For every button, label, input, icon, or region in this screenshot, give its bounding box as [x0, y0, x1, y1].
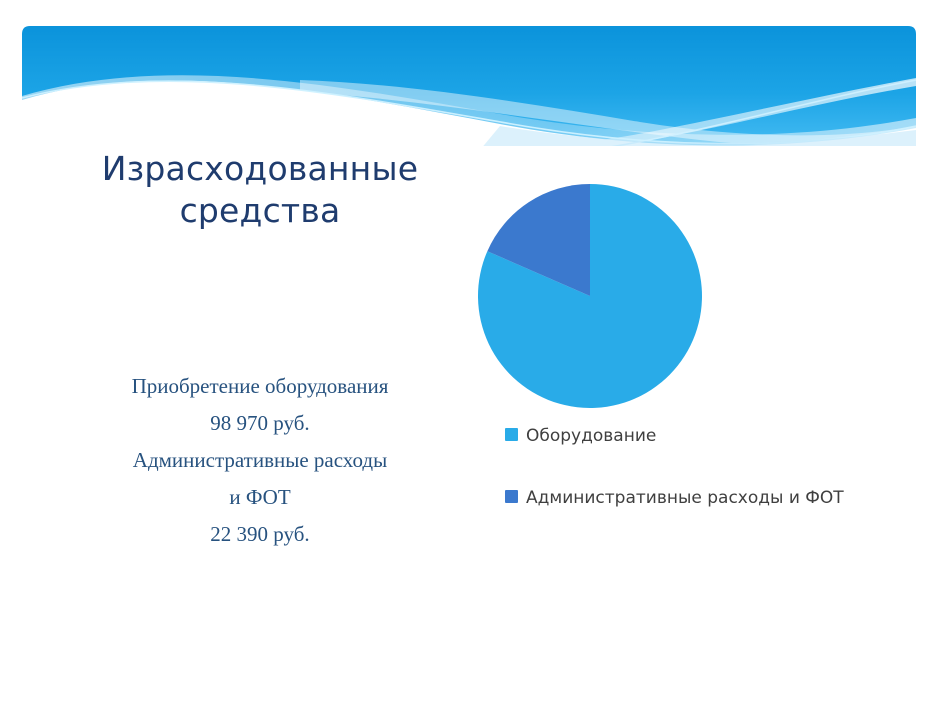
- pie-slice-group: [478, 184, 702, 408]
- pie-chart: [470, 176, 710, 416]
- legend-label-admin: Административные расходы и ФОТ: [526, 486, 844, 510]
- legend-swatch-icon-equipment: [505, 428, 518, 441]
- body-line-4: и ФОТ: [58, 479, 462, 516]
- slide-title: Израсходованные средства: [60, 148, 460, 232]
- title-line-1: Израсходованные: [60, 148, 460, 190]
- legend-item-admin[interactable]: Административные расходы и ФОТ: [505, 486, 865, 510]
- slide-body-text: Приобретение оборудования 98 970 руб. Ад…: [58, 368, 462, 553]
- body-line-2: 98 970 руб.: [58, 405, 462, 442]
- legend-label-equipment: Оборудование: [526, 424, 656, 448]
- body-line-5: 22 390 руб.: [58, 516, 462, 553]
- legend-item-equipment[interactable]: Оборудование: [505, 424, 865, 448]
- slide: Израсходованные средства Приобретение об…: [0, 0, 938, 703]
- chart-legend: Оборудование Административные расходы и …: [505, 424, 865, 548]
- body-line-3: Административные расходы: [58, 442, 462, 479]
- legend-swatch-icon-admin: [505, 490, 518, 503]
- body-line-1: Приобретение оборудования: [58, 368, 462, 405]
- title-line-2: средства: [60, 190, 460, 232]
- pie-chart-canvas: [470, 176, 710, 416]
